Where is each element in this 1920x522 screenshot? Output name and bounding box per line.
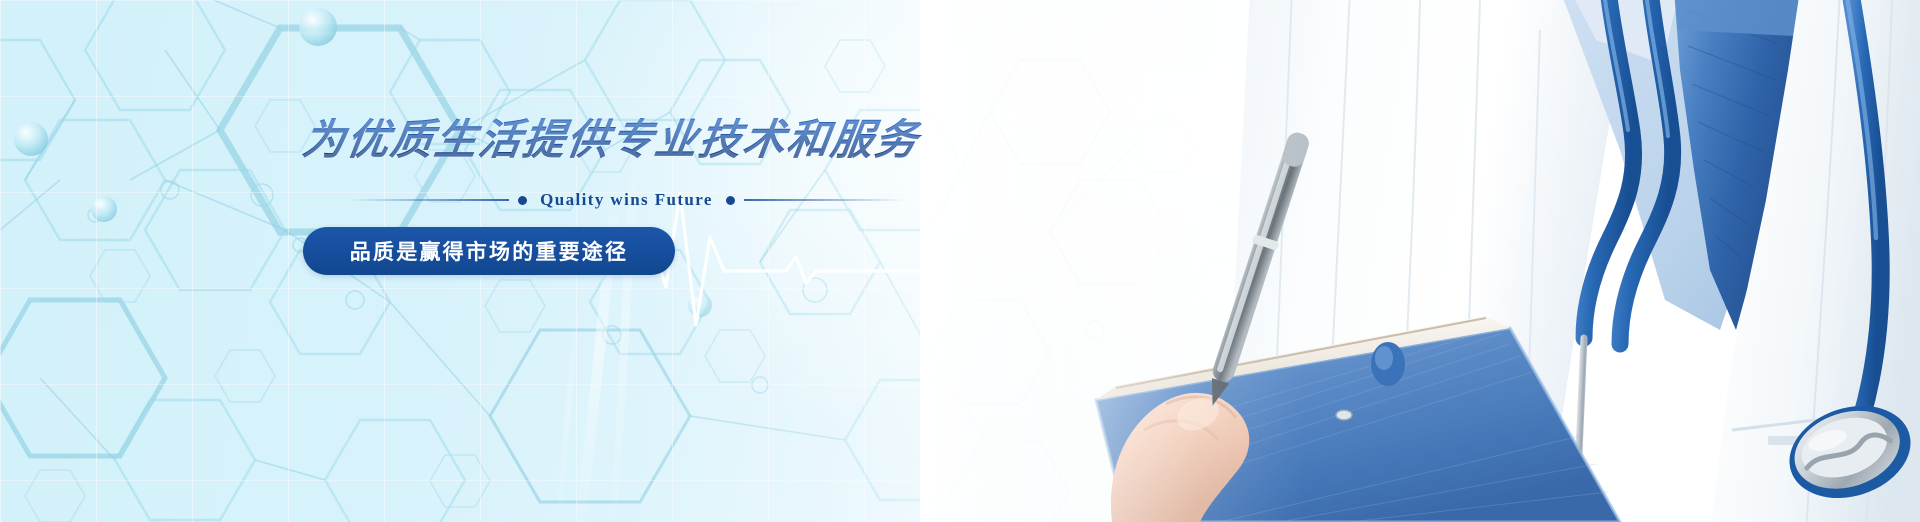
page-title: 为优质生活提供专业技术和服务 xyxy=(300,118,1006,162)
tagline-text: Quality wins Future xyxy=(536,190,717,210)
tagline-row: Quality wins Future xyxy=(349,190,904,210)
banner-content: 为优质生活提供专业技术和服务 Quality wins Future 品质是赢得… xyxy=(303,118,1003,275)
hero-banner: 为优质生活提供专业技术和服务 Quality wins Future 品质是赢得… xyxy=(0,0,1920,522)
tagline-rule-left xyxy=(349,199,509,201)
slogan-pill-button[interactable]: 品质是赢得市场的重要途径 xyxy=(303,227,675,275)
tagline-rule-right xyxy=(744,199,904,201)
slogan-pill-label: 品质是赢得市场的重要途径 xyxy=(350,236,628,266)
tagline-dot-right xyxy=(726,196,735,205)
doctor-photo xyxy=(920,0,1920,522)
tagline-dot-left xyxy=(518,196,527,205)
